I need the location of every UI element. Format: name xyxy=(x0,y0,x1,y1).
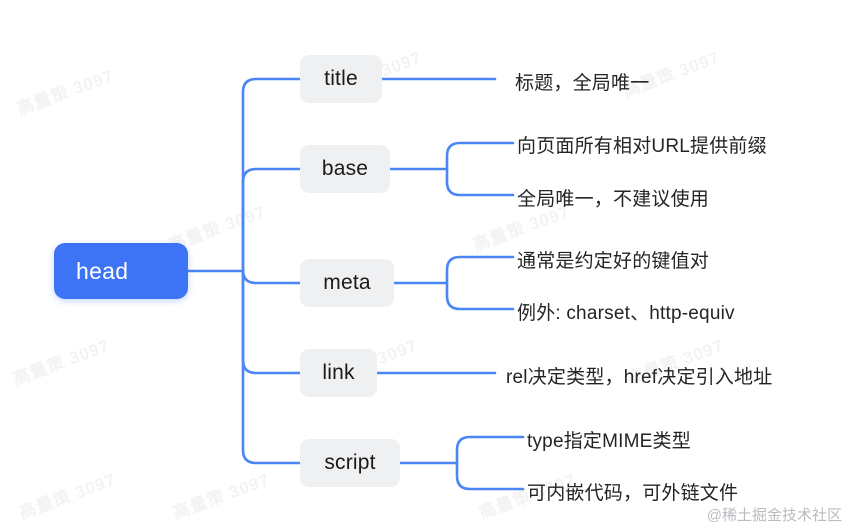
branch-node-label: meta xyxy=(323,271,371,295)
root-node-head[interactable]: head xyxy=(54,243,188,299)
branch-node-label: base xyxy=(322,157,368,181)
background-watermark: 高量策 3097 xyxy=(169,465,273,523)
wire-root-to-link xyxy=(243,271,300,373)
wire-root-to-base xyxy=(243,169,300,271)
branch-node-link[interactable]: link xyxy=(300,349,377,397)
background-watermark: 高量策 3097 xyxy=(15,465,119,523)
branch-node-meta[interactable]: meta xyxy=(300,259,394,307)
leaf-script-2: 可内嵌代码，可外链文件 xyxy=(527,478,738,505)
wire-root-to-script xyxy=(243,271,300,463)
leaf-meta-2: 例外: charset、http-equiv xyxy=(517,298,735,325)
background-watermark: 高量策 3097 xyxy=(9,331,113,389)
wire-script-leaf-1 xyxy=(457,437,523,463)
leaf-link-1: rel决定类型，href决定引入地址 xyxy=(506,362,772,389)
branch-node-base[interactable]: base xyxy=(300,145,390,193)
leaf-meta-1: 通常是约定好的键值对 xyxy=(517,246,709,273)
branch-node-title[interactable]: title xyxy=(300,55,382,103)
branch-node-label: title xyxy=(324,67,358,91)
wire-script-leaf-2 xyxy=(457,463,523,489)
branch-node-label: link xyxy=(322,361,354,385)
wire-root-to-meta xyxy=(243,270,300,283)
leaf-script-1: type指定MIME类型 xyxy=(527,426,691,453)
corner-watermark: @稀土掘金技术社区 xyxy=(707,504,842,525)
wire-meta-leaf-1 xyxy=(447,257,513,283)
branch-node-script[interactable]: script xyxy=(300,439,400,487)
wire-base-leaf-2 xyxy=(447,169,513,195)
wire-root-to-title xyxy=(243,79,300,271)
background-watermark: 高量策 3097 xyxy=(13,61,117,119)
wire-meta-leaf-2 xyxy=(447,283,513,309)
branch-node-label: script xyxy=(324,451,375,475)
leaf-title-1: 标题，全局唯一 xyxy=(515,68,649,95)
leaf-base-1: 向页面所有相对URL提供前缀 xyxy=(517,131,767,158)
leaf-base-2: 全局唯一，不建议使用 xyxy=(517,184,709,211)
mindmap-canvas: 高量策 3097 高量策 3097 高量策 3097 高量策 3097 高量策 … xyxy=(0,0,854,531)
wire-base-leaf-1 xyxy=(447,143,513,169)
root-node-label: head xyxy=(76,258,128,285)
